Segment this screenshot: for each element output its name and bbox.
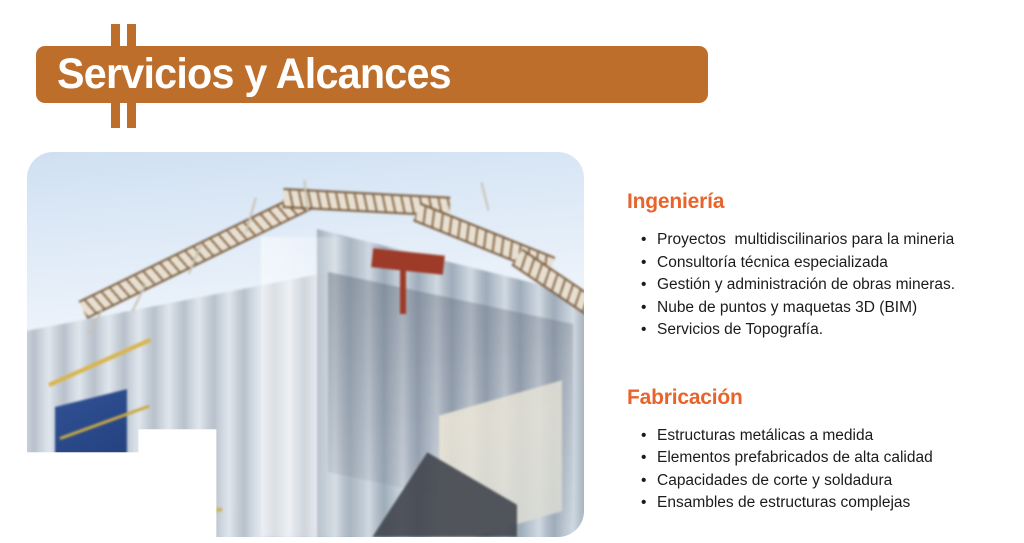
section-fabricacion: Fabricación Estructuras metálicas a medi…: [627, 386, 1017, 515]
industrial-photo: [27, 152, 584, 537]
yellow-hose: [153, 446, 223, 516]
photo-clip-shape: [27, 152, 584, 537]
slide-root: Servicios y Alcances: [0, 0, 1024, 543]
list-item: Nube de puntos y maquetas 3D (BIM): [641, 297, 1017, 320]
list-item: Estructuras metálicas a medida: [641, 425, 1017, 448]
photo-blur-layer: [27, 152, 584, 537]
list-item: Elementos prefabricados de alta calidad: [641, 447, 1017, 470]
list-item: Capacidades de corte y soldadura: [641, 470, 1017, 493]
list-item: Consultoría técnica especializada: [641, 252, 1017, 275]
photo-container: [27, 152, 584, 537]
list-item: Servicios de Topografía.: [641, 319, 1017, 342]
section-heading-fabricacion: Fabricación: [627, 386, 1017, 409]
scaffolding-group: [49, 175, 584, 398]
section-ingenieria: Ingeniería Proyectos multidiscilinarios …: [627, 190, 1017, 342]
page-title: Servicios y Alcances: [57, 53, 451, 96]
section-heading-ingenieria: Ingeniería: [627, 190, 1017, 213]
red-support-post: [400, 260, 406, 314]
list-item: Gestión y administración de obras minera…: [641, 274, 1017, 297]
bullet-list-ingenieria: Proyectos multidiscilinarios para la min…: [627, 229, 1017, 342]
title-banner: Servicios y Alcances: [0, 0, 760, 145]
antenna-rod: [480, 182, 489, 211]
services-content-column: Ingeniería Proyectos multidiscilinarios …: [627, 190, 1017, 515]
list-item: Ensambles de estructuras complejas: [641, 492, 1017, 515]
title-bar: Servicios y Alcances: [36, 46, 708, 103]
bullet-list-fabricacion: Estructuras metálicas a medida Elementos…: [627, 425, 1017, 515]
list-item: Proyectos multidiscilinarios para la min…: [641, 229, 1017, 252]
